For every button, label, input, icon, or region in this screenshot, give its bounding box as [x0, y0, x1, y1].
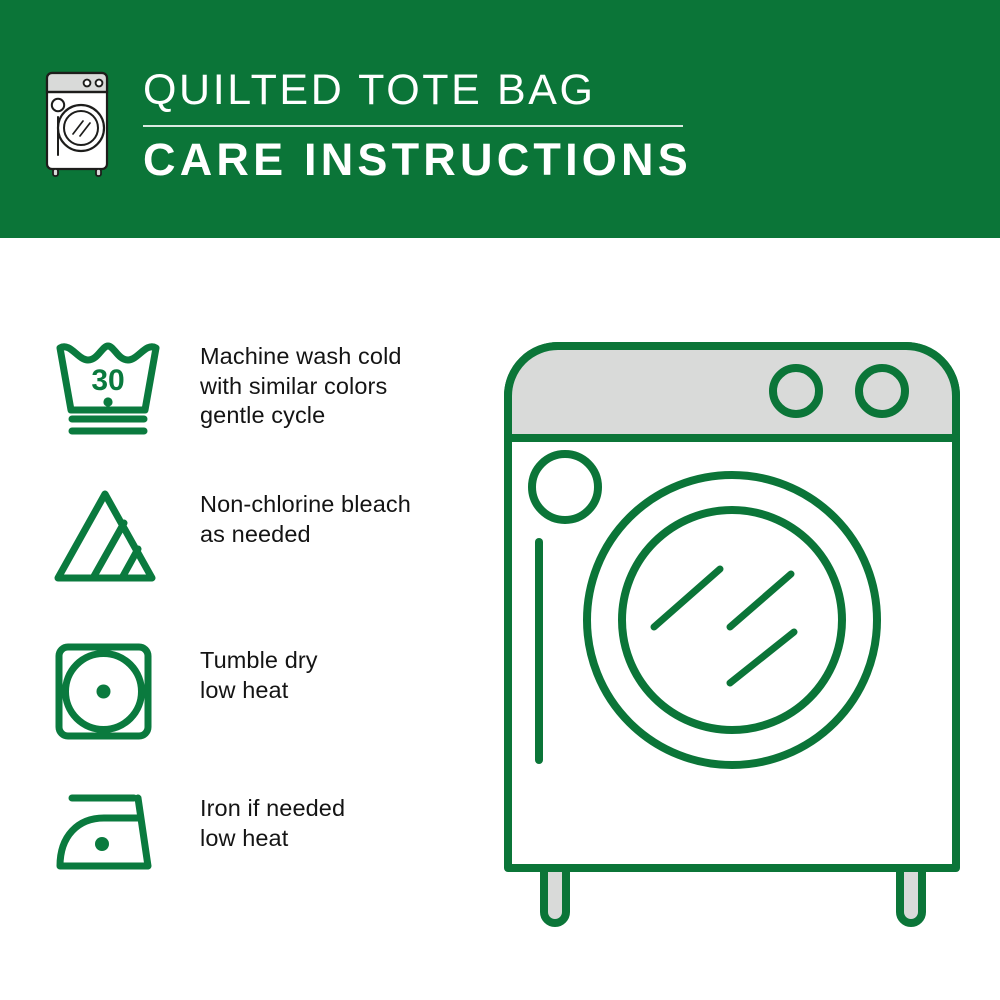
iron-low-heat-symbol — [52, 790, 164, 876]
page-subtitle: CARE INSTRUCTIONS — [143, 133, 703, 187]
knob-right — [859, 368, 905, 414]
wash-temperature-label: 30 — [91, 364, 124, 397]
header-title-group: QUILTED TOTE BAG CARE INSTRUCTIONS — [143, 64, 703, 187]
care-row-machine-wash: 30 Machine wash cold with similar colors… — [52, 338, 482, 440]
knob-left — [773, 368, 819, 414]
header-banner: QUILTED TOTE BAG CARE INSTRUCTIONS — [0, 0, 1000, 238]
non-chlorine-bleach-symbol — [52, 486, 164, 586]
care-text-bleach: Non-chlorine bleach as needed — [200, 486, 411, 549]
title-divider — [143, 125, 683, 127]
washing-machine-icon — [44, 66, 110, 178]
care-text-iron: Iron if needed low heat — [200, 790, 345, 853]
care-text-tumble-dry: Tumble dry low heat — [200, 642, 318, 705]
care-row-iron: Iron if needed low heat — [52, 790, 482, 876]
small-dial — [532, 454, 598, 520]
leg-right — [900, 868, 922, 923]
tumble-dry-low-symbol — [52, 642, 164, 742]
page-title: QUILTED TOTE BAG — [143, 64, 703, 116]
front-load-washing-machine-illustration — [492, 330, 972, 930]
door-inner-ring — [622, 510, 842, 730]
care-instruction-list: 30 Machine wash cold with similar colors… — [0, 238, 500, 1000]
care-instructions-infographic: QUILTED TOTE BAG CARE INSTRUCTIONS 30 — [0, 0, 1000, 1000]
care-row-tumble-dry: Tumble dry low heat — [52, 642, 482, 742]
leg-left — [544, 868, 566, 923]
care-text-machine-wash: Machine wash cold with similar colors ge… — [200, 338, 402, 431]
machine-wash-30-gentle-symbol: 30 — [52, 338, 164, 440]
care-row-bleach: Non-chlorine bleach as needed — [52, 486, 482, 586]
